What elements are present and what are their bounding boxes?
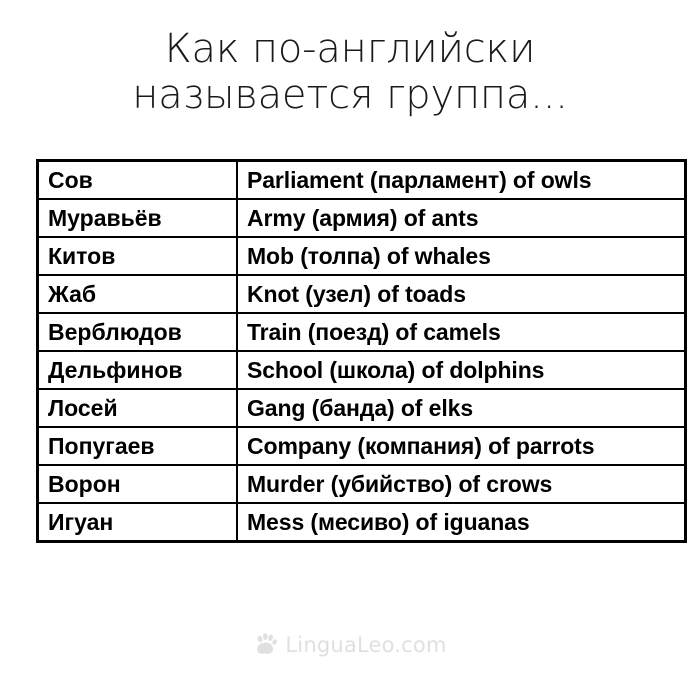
table-row: Попугаев Company (компания) of parrots: [38, 427, 686, 465]
table-row: Жаб Knot (узел) of toads: [38, 275, 686, 313]
paw-print-icon: [253, 632, 279, 658]
collective-nouns-table: Сов Parliament (парламент) of owls Мурав…: [36, 159, 687, 543]
table-row: Сов Parliament (парламент) of owls: [38, 161, 686, 200]
cell-russian-animal: Сов: [38, 161, 238, 200]
cell-russian-animal: Лосей: [38, 389, 238, 427]
cell-russian-animal: Китов: [38, 237, 238, 275]
cell-russian-animal: Ворон: [38, 465, 238, 503]
cell-english-term: Parliament (парламент) of owls: [237, 161, 686, 200]
table-body: Сов Parliament (парламент) of owls Мурав…: [38, 161, 686, 542]
page-title-line-2: называется группа...: [0, 72, 700, 118]
cell-russian-animal: Жаб: [38, 275, 238, 313]
footer-brand-label: LinguaLeo.com: [285, 635, 446, 656]
cell-russian-animal: Игуан: [38, 503, 238, 542]
cell-english-term: Murder (убийство) of crows: [237, 465, 686, 503]
table-row: Муравьёв Army (армия) of ants: [38, 199, 686, 237]
table-row: Верблюдов Train (поезд) of camels: [38, 313, 686, 351]
page-root: { "page": { "background_color": "#ffffff…: [0, 0, 700, 700]
table-row: Лосей Gang (банда) of elks: [38, 389, 686, 427]
cell-english-term: Company (компания) of parrots: [237, 427, 686, 465]
table-row: Дельфинов School (школа) of dolphins: [38, 351, 686, 389]
cell-english-term: Train (поезд) of camels: [237, 313, 686, 351]
cell-english-term: School (школа) of dolphins: [237, 351, 686, 389]
cell-english-term: Mess (месиво) of iguanas: [237, 503, 686, 542]
table-row: Китов Mob (толпа) of whales: [38, 237, 686, 275]
cell-russian-animal: Верблюдов: [38, 313, 238, 351]
cell-english-term: Gang (банда) of elks: [237, 389, 686, 427]
page-title-line-1: Как по-английски: [0, 26, 700, 72]
cell-english-term: Mob (толпа) of whales: [237, 237, 686, 275]
cell-english-term: Army (армия) of ants: [237, 199, 686, 237]
cell-english-term: Knot (узел) of toads: [237, 275, 686, 313]
page-title: Как по-английски называется группа...: [0, 0, 700, 118]
cell-russian-animal: Попугаев: [38, 427, 238, 465]
table-row: Игуан Mess (месиво) of iguanas: [38, 503, 686, 542]
cell-russian-animal: Муравьёв: [38, 199, 238, 237]
cell-russian-animal: Дельфинов: [38, 351, 238, 389]
footer-watermark: LinguaLeo.com: [0, 632, 700, 658]
collective-nouns-table-wrapper: Сов Parliament (парламент) of owls Мурав…: [36, 159, 667, 543]
table-row: Ворон Murder (убийство) of crows: [38, 465, 686, 503]
